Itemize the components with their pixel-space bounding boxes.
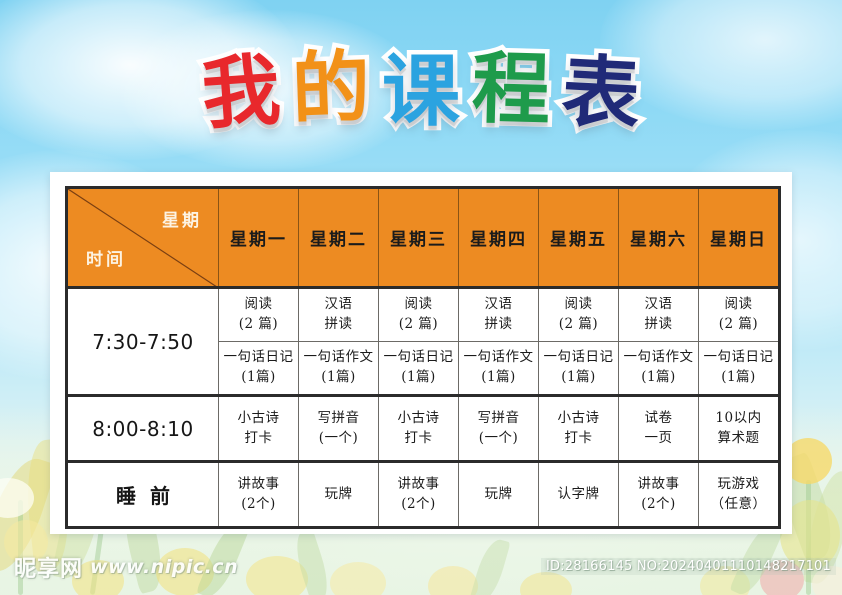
cell-line-2: (一个) — [300, 429, 377, 449]
table-cell: 讲故事 (2个) — [219, 462, 299, 528]
title-char-1: 我 — [199, 51, 282, 134]
table-cell: 一句话日记 (1篇) — [539, 342, 619, 396]
cell-line-2: (2 篇) — [380, 315, 457, 335]
table-cell: 玩牌 — [459, 462, 539, 528]
table-row: 8:00-8:10 小古诗 打卡 写拼音 (一个) 小古诗 打卡 写拼音 (一个… — [67, 396, 780, 462]
table-cell: 写拼音 (一个) — [299, 396, 379, 462]
cell-line-2: 算术题 — [700, 429, 777, 449]
column-header-sat: 星期六 — [619, 188, 699, 288]
cell-line-2: (2 篇) — [700, 315, 777, 335]
table-cell: 一句话日记 (1篇) — [379, 342, 459, 396]
cell-line-1: 一句话作文 — [300, 348, 377, 368]
table-cell: 阅读 (2 篇) — [219, 288, 299, 342]
header-row: 星期 时间 星期一 星期二 星期三 星期四 星期五 星期六 星期日 — [67, 188, 780, 288]
table-cell: 阅读 (2 篇) — [539, 288, 619, 342]
row-time-label: 8:00-8:10 — [67, 396, 219, 462]
cell-line-2: (2个) — [620, 495, 697, 515]
cell-line-2: (1篇) — [460, 368, 537, 388]
table-row: 7:30-7:50 阅读 (2 篇) 汉语 拼读 阅读 (2 篇) 汉语 拼读 — [67, 288, 780, 342]
corner-time-label: 时间 — [86, 245, 126, 270]
column-header-sun: 星期日 — [699, 188, 780, 288]
cell-line-1: 讲故事 — [380, 475, 457, 495]
cell-line-1: 玩牌 — [460, 485, 537, 505]
title-char-2: 的 — [291, 49, 372, 130]
table-cell: 讲故事 (2个) — [379, 462, 459, 528]
cell-line-1: 10以内 — [700, 409, 777, 429]
cell-line-1: 汉语 — [460, 295, 537, 315]
cell-line-2: (2个) — [380, 495, 457, 515]
column-header-thu: 星期四 — [459, 188, 539, 288]
cell-line-1: 汉语 — [620, 295, 697, 315]
table-cell: 汉语 拼读 — [299, 288, 379, 342]
column-header-mon: 星期一 — [219, 188, 299, 288]
table-cell: 试卷 一页 — [619, 396, 699, 462]
cell-line-1: 阅读 — [700, 295, 777, 315]
cell-line-1: 一句话日记 — [380, 348, 457, 368]
cell-line-2: 一页 — [620, 429, 697, 449]
cell-line-1: 阅读 — [220, 295, 297, 315]
table-cell: 10以内 算术题 — [699, 396, 780, 462]
cell-line-2: 拼读 — [620, 315, 697, 335]
cell-line-2: 拼读 — [460, 315, 537, 335]
poster-canvas: 我的课程表 星期 时间 星期一 星期二 星期三 星期四 — [0, 0, 842, 595]
cell-line-2: (2 篇) — [540, 315, 617, 335]
cell-line-1: 小古诗 — [540, 409, 617, 429]
cell-line-1: 一句话日记 — [700, 348, 777, 368]
table-cell: 写拼音 (一个) — [459, 396, 539, 462]
cell-line-2: (2 篇) — [220, 315, 297, 335]
table-header: 星期 时间 星期一 星期二 星期三 星期四 星期五 星期六 星期日 — [67, 188, 780, 288]
cell-line-1: 认字牌 — [540, 485, 617, 505]
cell-line-1: 一句话日记 — [540, 348, 617, 368]
row-time-label: 7:30-7:50 — [67, 288, 219, 396]
table-cell: 阅读 (2 篇) — [699, 288, 780, 342]
column-header-fri: 星期五 — [539, 188, 619, 288]
watermark-site-url: www.nipic.cn — [90, 556, 238, 578]
table-cell: 小古诗 打卡 — [219, 396, 299, 462]
cell-line-1: 小古诗 — [380, 409, 457, 429]
table-cell: 一句话作文 (1篇) — [459, 342, 539, 396]
table-cell: 玩牌 — [299, 462, 379, 528]
cell-line-1: 写拼音 — [300, 409, 377, 429]
cell-line-1: 写拼音 — [460, 409, 537, 429]
table-body: 7:30-7:50 阅读 (2 篇) 汉语 拼读 阅读 (2 篇) 汉语 拼读 — [67, 288, 780, 528]
cell-line-2: 打卡 — [220, 429, 297, 449]
cell-line-1: 一句话作文 — [620, 348, 697, 368]
cell-line-1: 讲故事 — [220, 475, 297, 495]
cell-line-1: 玩游戏 — [700, 475, 777, 495]
cell-line-1: 阅读 — [380, 295, 457, 315]
cell-line-2: (1篇) — [300, 368, 377, 388]
cell-line-2: （任意） — [700, 495, 777, 515]
page-title: 我的课程表 — [0, 52, 842, 130]
table-cell: 讲故事 (2个) — [619, 462, 699, 528]
table-cell: 一句话日记 (1篇) — [219, 342, 299, 396]
cell-line-2: (一个) — [460, 429, 537, 449]
cell-line-1: 试卷 — [620, 409, 697, 429]
cell-line-1: 一句话作文 — [460, 348, 537, 368]
row-time-label: 睡前 — [67, 462, 219, 528]
cell-line-1: 玩牌 — [300, 485, 377, 505]
cell-line-2: (1篇) — [380, 368, 457, 388]
column-header-wed: 星期三 — [379, 188, 459, 288]
table-cell: 一句话作文 (1篇) — [299, 342, 379, 396]
table-cell: 阅读 (2 篇) — [379, 288, 459, 342]
column-header-tue: 星期二 — [299, 188, 379, 288]
cell-line-2: (1篇) — [220, 368, 297, 388]
table-cell: 一句话日记 (1篇) — [699, 342, 780, 396]
table-cell: 一句话作文 (1篇) — [619, 342, 699, 396]
cell-line-1: 小古诗 — [220, 409, 297, 429]
cell-line-2: 打卡 — [380, 429, 457, 449]
cell-line-2: 打卡 — [540, 429, 617, 449]
table-cell: 小古诗 打卡 — [539, 396, 619, 462]
diagonal-divider-icon — [68, 189, 218, 288]
cell-line-1: 一句话日记 — [220, 348, 297, 368]
table-cell: 玩游戏 （任意） — [699, 462, 780, 528]
schedule-table: 星期 时间 星期一 星期二 星期三 星期四 星期五 星期六 星期日 7:30-7… — [65, 186, 781, 529]
corner-cell-time-week: 星期 时间 — [67, 188, 219, 288]
watermark-site-name: 昵享网 — [14, 551, 83, 583]
cell-line-1: 讲故事 — [620, 475, 697, 495]
table-cell: 汉语 拼读 — [459, 288, 539, 342]
title-char-5: 表 — [560, 53, 642, 135]
cell-line-2: (1篇) — [700, 368, 777, 388]
table-row: 睡前 讲故事 (2个) 玩牌 讲故事 (2个) 玩牌 — [67, 462, 780, 528]
table-cell: 汉语 拼读 — [619, 288, 699, 342]
cell-line-1: 阅读 — [540, 295, 617, 315]
cell-line-2: (1篇) — [620, 368, 697, 388]
title-char-3: 课 — [382, 53, 460, 131]
corner-week-label: 星期 — [162, 206, 202, 231]
watermark-logo: 昵享网 www.nipic.cn — [14, 551, 238, 583]
cell-line-2: (2个) — [220, 495, 297, 515]
table-cell: 认字牌 — [539, 462, 619, 528]
cell-line-2: 拼读 — [300, 315, 377, 335]
cell-line-2: (1篇) — [540, 368, 617, 388]
cell-line-1: 汉语 — [300, 295, 377, 315]
watermark-id-text: ID:28166145 NO:20240401110148217101 — [541, 558, 836, 575]
title-char-4: 程 — [471, 50, 551, 130]
table-cell: 小古诗 打卡 — [379, 396, 459, 462]
